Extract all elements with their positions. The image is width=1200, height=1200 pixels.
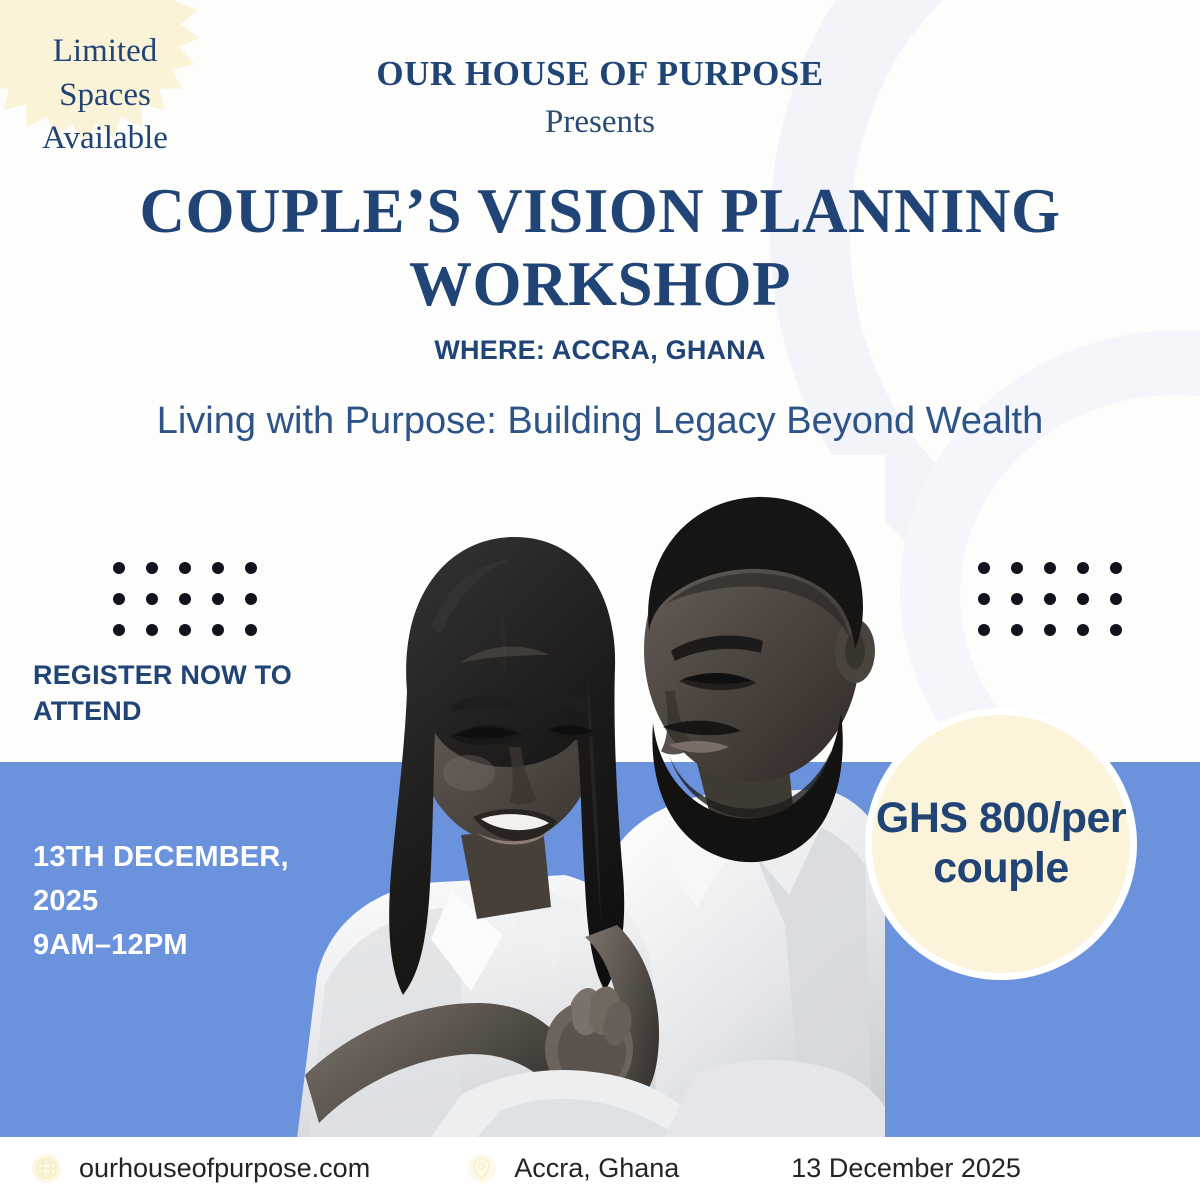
event-date-line-2: 2025: [33, 879, 333, 923]
footer-website[interactable]: ourhouseofpurpose.com: [30, 1152, 370, 1185]
dot: [1011, 624, 1023, 636]
footer-location-text: Accra, Ghana: [514, 1153, 679, 1184]
dot: [1110, 624, 1122, 636]
subtitle: Living with Purpose: Building Legacy Bey…: [140, 395, 1060, 449]
dot: [212, 562, 224, 574]
dot: [113, 562, 125, 574]
page-title: COUPLE’S VISION PLANNING WORKSHOP: [90, 175, 1110, 321]
title-line-1: COUPLE’S VISION PLANNING: [90, 175, 1110, 248]
event-schedule: 13TH DECEMBER, 2025 9AM–12PM: [33, 835, 333, 967]
dot: [1044, 593, 1056, 605]
footer-website-text: ourhouseofpurpose.com: [79, 1153, 370, 1184]
dot: [978, 624, 990, 636]
map-pin-icon: [465, 1152, 498, 1185]
title-line-2: WORKSHOP: [90, 248, 1110, 321]
where-label: WHERE: ACCRA, GHANA: [0, 335, 1200, 366]
event-time: 9AM–12PM: [33, 923, 333, 967]
dot: [212, 624, 224, 636]
dot: [179, 593, 191, 605]
dot-row: [978, 593, 1122, 605]
dot: [1011, 593, 1023, 605]
dot-row: [113, 624, 257, 636]
dot: [146, 562, 158, 574]
footer-location: Accra, Ghana: [465, 1152, 679, 1185]
dot-row: [978, 562, 1122, 574]
presents-label: Presents: [0, 104, 1200, 141]
footer-bar: ourhouseofpurpose.com Accra, Ghana 13 De…: [0, 1137, 1200, 1200]
dot: [146, 624, 158, 636]
dot-row: [978, 624, 1122, 636]
dot: [179, 624, 191, 636]
dot: [245, 562, 257, 574]
globe-icon: [30, 1152, 63, 1185]
couple-photo: [265, 455, 885, 1137]
dot: [113, 593, 125, 605]
dot: [179, 562, 191, 574]
limited-spaces-badge: Limited Spaces Available: [10, 30, 200, 161]
dot: [978, 562, 990, 574]
dot: [146, 593, 158, 605]
event-flyer: Limited Spaces Available: [0, 0, 1200, 1200]
price-badge: GHS 800/per couple: [865, 708, 1137, 980]
price-text: GHS 800/per couple: [872, 794, 1130, 894]
footer-date: 13 December 2025: [791, 1153, 1021, 1184]
dot: [212, 593, 224, 605]
event-date-line-1: 13TH DECEMBER,: [33, 835, 333, 879]
dot: [1011, 562, 1023, 574]
dot: [1077, 624, 1089, 636]
dot: [1077, 593, 1089, 605]
dot: [978, 593, 990, 605]
footer-date-text: 13 December 2025: [791, 1153, 1021, 1184]
dot: [1110, 593, 1122, 605]
dot: [1044, 562, 1056, 574]
dot: [1077, 562, 1089, 574]
dot-row: [113, 593, 257, 605]
dot: [245, 624, 257, 636]
dot-grid-right: [978, 562, 1122, 655]
organization-name: OUR HOUSE OF PURPOSE: [0, 54, 1200, 94]
dot-row: [113, 562, 257, 574]
register-cta[interactable]: REGISTER NOW TO ATTEND: [33, 658, 333, 729]
dot: [245, 593, 257, 605]
dot: [113, 624, 125, 636]
dot: [1044, 624, 1056, 636]
dot-grid-left: [113, 562, 257, 655]
dot: [1110, 562, 1122, 574]
